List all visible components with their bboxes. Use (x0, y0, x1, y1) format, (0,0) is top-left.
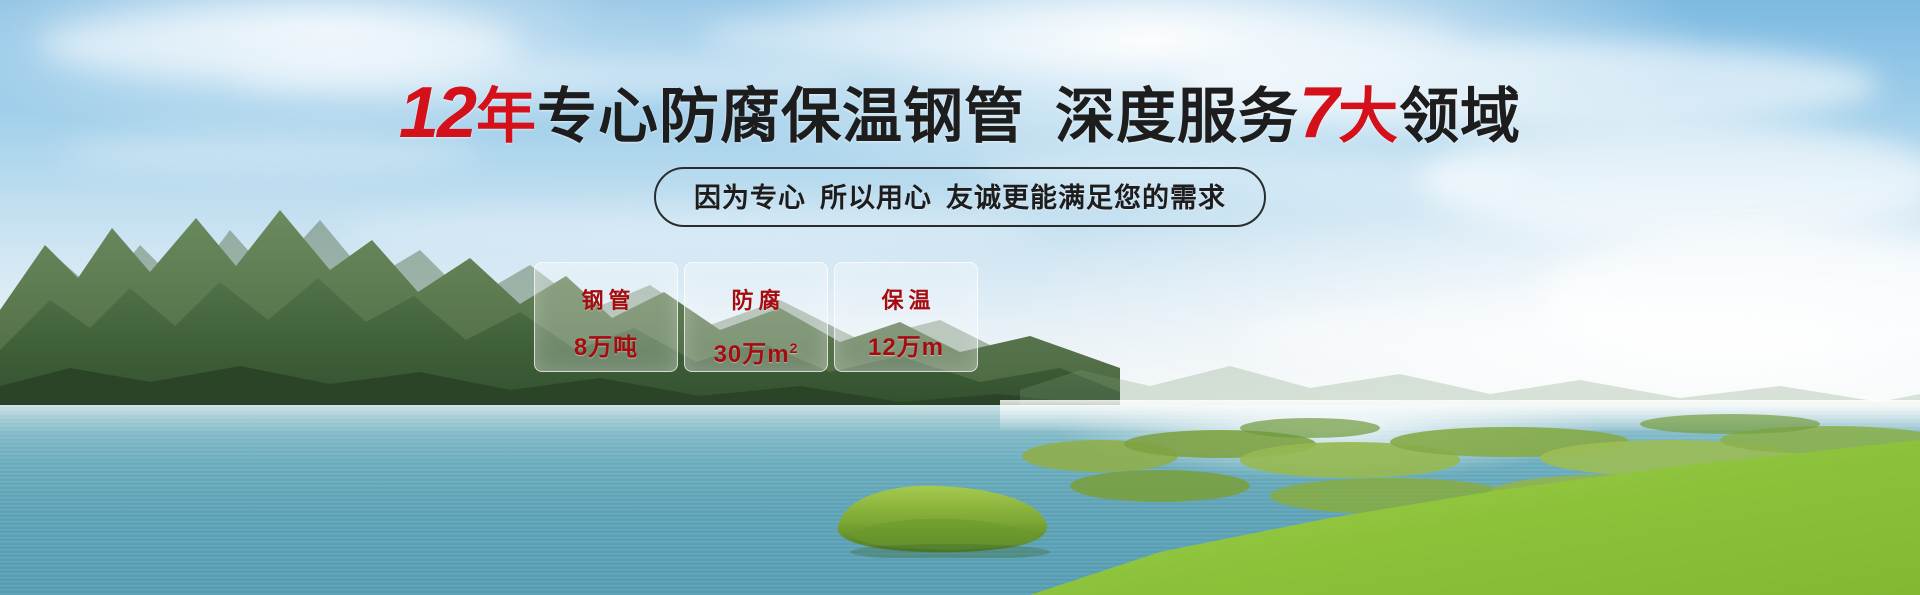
stat-card-value: 30万m2 (714, 335, 799, 368)
headline: 12年专心防腐保温钢管深度服务7大领域 (0, 82, 1920, 148)
grass-island (810, 478, 1070, 558)
promo-banner: 12年专心防腐保温钢管深度服务7大领域 因为专心所以用心友诚更能满足您的需求 钢… (0, 0, 1920, 595)
foreground-grass-field (1030, 440, 1920, 595)
stat-value-text: 8万吨 (574, 334, 638, 361)
stat-value-text: 12万m (868, 334, 944, 361)
stat-card-group: 钢管 8万吨 防腐 30万m2 保温 12万m (534, 262, 978, 372)
stat-card-label: 钢管 (576, 289, 635, 313)
subtitle-part-3: 友诚更能满足您的需求 (946, 183, 1226, 213)
stat-card-label: 防腐 (726, 289, 785, 313)
subtitle-pill: 因为专心所以用心友诚更能满足您的需求 (654, 167, 1266, 227)
stat-card-steel-pipe: 钢管 8万吨 (534, 262, 678, 372)
stat-card-value: 12万m (868, 335, 944, 361)
headline-fields-unit: 大 (1338, 83, 1399, 150)
headline-service-text: 深度服务 (1055, 83, 1299, 150)
headline-years-number: 12 (399, 73, 475, 153)
subtitle-part-2: 所以用心 (820, 183, 932, 213)
stat-value-text: 30万m (714, 341, 790, 368)
headline-fields-tail: 领域 (1399, 83, 1521, 150)
headline-main-text: 专心防腐保温钢管 (537, 83, 1025, 150)
headline-fields-number: 7 (1299, 73, 1337, 153)
stat-value-superscript: 2 (790, 340, 799, 356)
headline-years-unit: 年 (476, 83, 537, 150)
stat-card-insulation: 保温 12万m (834, 262, 978, 372)
stat-card-value: 8万吨 (574, 335, 638, 361)
stat-card-label: 保温 (876, 289, 935, 313)
stat-card-anticorrosion: 防腐 30万m2 (684, 262, 828, 372)
subtitle-part-1: 因为专心 (694, 183, 806, 213)
